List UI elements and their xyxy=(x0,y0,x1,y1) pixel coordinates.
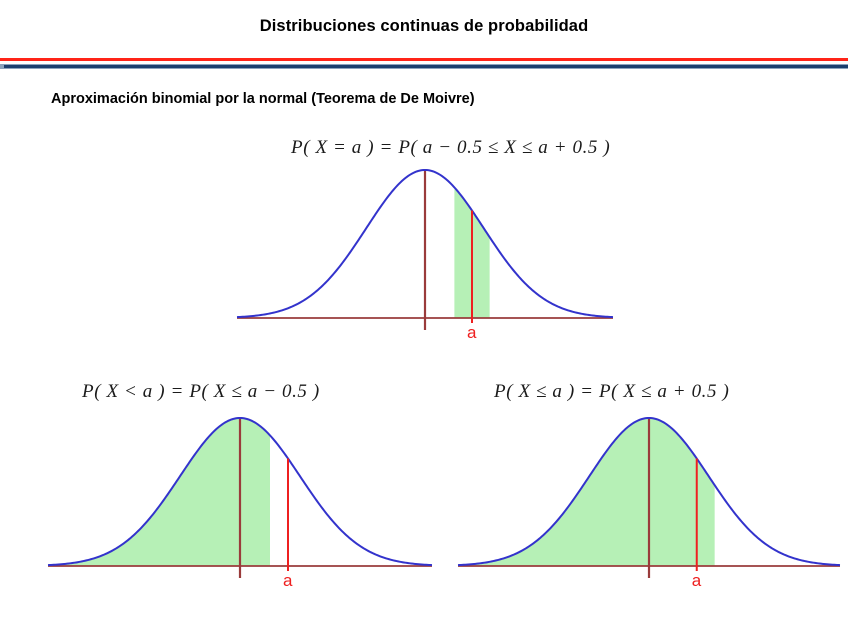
formula-left-lhs: P( X < a ) = xyxy=(82,381,184,402)
normal-curve-svg-bottom-right xyxy=(450,408,848,578)
marker-label-a-bottom-right: a xyxy=(692,572,701,589)
page-title: Distribuciones continuas de probabilidad xyxy=(0,17,848,36)
formula-right-rhs: P( X ≤ a + 0.5 ) xyxy=(599,381,729,402)
normal-curve-chart-equal-case: a xyxy=(230,160,620,330)
formula-left-rhs: P( X ≤ a − 0.5 ) xyxy=(189,381,319,402)
formula-top-rhs: P( a − 0.5 ≤ X ≤ a + 0.5 ) xyxy=(398,137,610,158)
formula-less-than-case: P( X < a ) = P( X ≤ a − 0.5 ) xyxy=(82,381,320,403)
formula-equal-case: P( X = a ) = P( a − 0.5 ≤ X ≤ a + 0.5 ) xyxy=(291,137,610,159)
header-divider xyxy=(0,56,848,70)
section-subtitle: Aproximación binomial por la normal (Teo… xyxy=(51,91,475,107)
normal-curve-svg-top xyxy=(230,160,620,330)
formula-less-equal-case: P( X ≤ a ) = P( X ≤ a + 0.5 ) xyxy=(494,381,729,403)
divider-navy-line xyxy=(4,65,848,68)
formula-top-lhs: P( X = a ) = xyxy=(291,137,393,158)
formula-right-lhs: P( X ≤ a ) = xyxy=(494,381,594,402)
shaded-region-bottom-left xyxy=(48,418,270,566)
normal-curve-svg-bottom-left xyxy=(40,408,440,578)
normal-curve-chart-less-than-case: a xyxy=(40,408,440,578)
normal-curve-chart-less-equal-case: a xyxy=(450,408,848,578)
marker-label-a-bottom-left: a xyxy=(283,572,292,589)
marker-label-a-top: a xyxy=(467,324,476,341)
shaded-region-bottom-right xyxy=(458,418,715,566)
